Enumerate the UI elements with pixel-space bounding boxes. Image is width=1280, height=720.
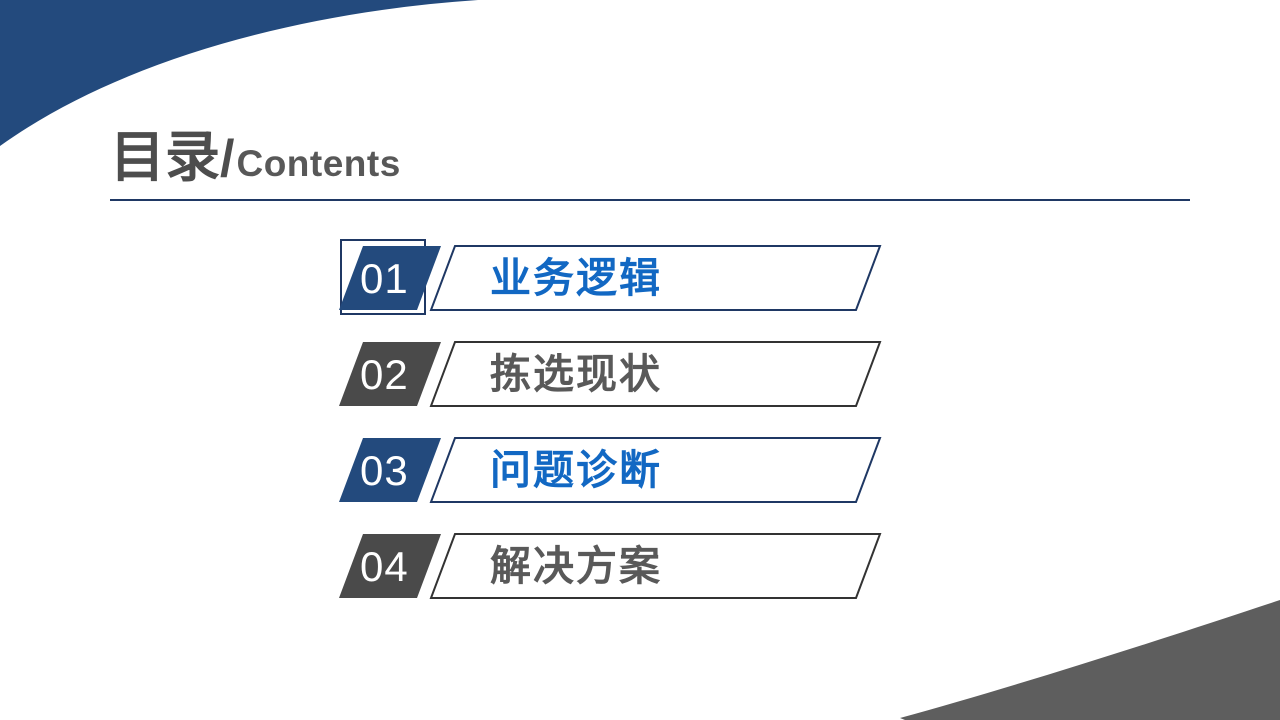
toc-item-03[interactable]: 03 问题诊断: [0, 430, 1280, 526]
toc-item-02-label: 拣选现状: [490, 344, 662, 404]
toc-item-01-number: 01: [360, 252, 444, 306]
toc-item-02-number: 02: [360, 348, 444, 402]
toc-item-01[interactable]: 01 业务逻辑: [0, 238, 1280, 334]
toc-item-02[interactable]: 02 拣选现状: [0, 334, 1280, 430]
slide-canvas: 目录 / Contents 01 业务逻辑 02 拣选现状: [0, 0, 1280, 720]
toc-item-03-label: 问题诊断: [490, 440, 662, 500]
toc-item-04-number: 04: [360, 540, 444, 594]
toc-item-01-label: 业务逻辑: [490, 248, 662, 308]
toc-item-03-number: 03: [360, 444, 444, 498]
table-of-contents: 01 业务逻辑 02 拣选现状 03 问题诊断: [0, 0, 1280, 720]
toc-item-04[interactable]: 04 解决方案: [0, 526, 1280, 622]
toc-item-04-label: 解决方案: [490, 536, 662, 596]
